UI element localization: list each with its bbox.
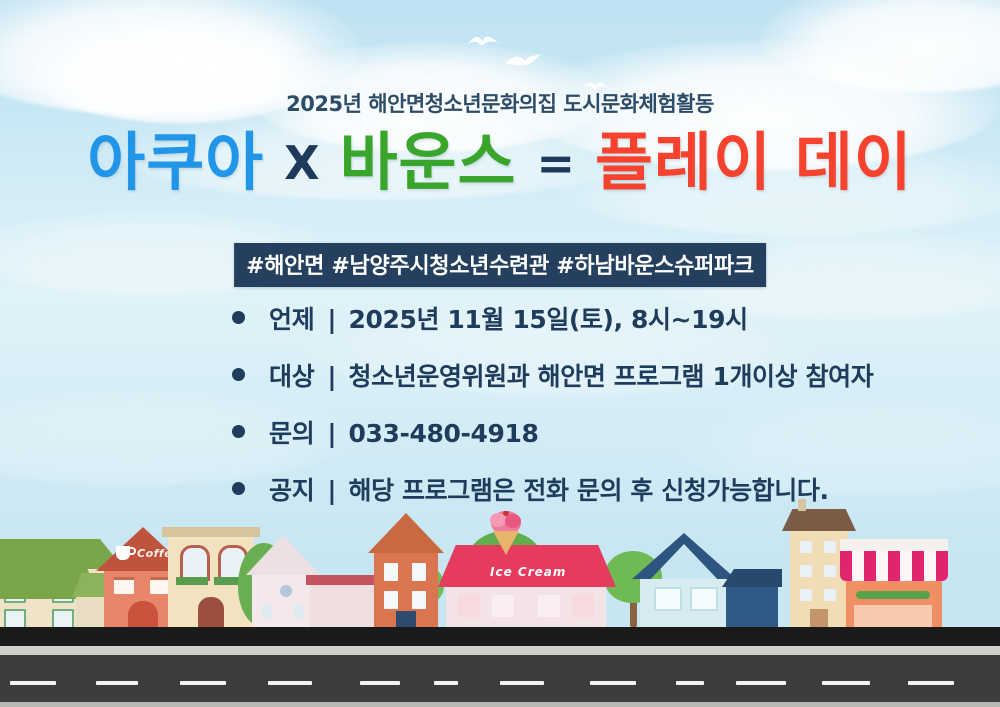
info-value: 033-480-4918 [349,419,539,448]
info-value: 2025년 11월 15일(토), 8시~19시 [349,300,748,336]
sidewalk-curb [0,646,1000,655]
bullet-icon [232,425,245,438]
bird-icon [468,34,498,48]
info-label: 언제 [269,300,314,336]
road-surface [0,655,1000,707]
info-row-when: 언제 | 2025년 11월 15일(토), 8시~19시 [232,300,972,357]
info-separator: | [327,419,336,448]
poster-title: 아쿠아 X 바운스 = 플레이 데이 [0,131,1000,194]
info-value: 청소년운영위원과 해안면 프로그램 1개이상 참여자 [349,357,874,393]
roof-shape [162,527,260,537]
poster-subheading: 2025년 해안면청소년문화의집 도시문화체험활동 [0,88,1000,118]
title-word-aqua: 아쿠아 [87,131,264,194]
cityscape-right-section [0,547,1000,707]
info-row-audience: 대상 | 청소년운영위원과 해안면 프로그램 1개이상 참여자 [232,357,972,414]
info-label: 문의 [269,414,314,450]
info-separator: | [327,305,336,334]
bullet-icon [232,482,245,495]
event-info-list: 언제 | 2025년 11월 15일(토), 8시~19시 대상 | 청소년운영… [232,300,972,528]
bullet-icon [232,368,245,381]
road-lane-markings [0,681,1000,685]
info-row-contact: 문의 | 033-480-4918 [232,414,972,471]
info-separator: | [327,476,336,505]
title-word-playday: 플레이 데이 [595,131,913,194]
info-separator: | [327,362,336,391]
title-operator-equals: = [536,136,575,190]
street-fence [0,627,1000,646]
info-value: 해당 프로그램은 전화 문의 후 신청가능합니다. [349,471,829,507]
fence-posts [0,630,1000,643]
road-shoulder [0,702,1000,707]
info-label: 공지 [269,471,314,507]
title-word-bounce: 바운스 [340,131,517,194]
bird-icon [505,52,541,68]
event-poster: 2025년 해안면청소년문화의집 도시문화체험활동 아쿠아 X 바운스 = 플레… [0,0,1000,707]
chimney-shape [798,499,806,511]
info-row-notice: 공지 | 해당 프로그램은 전화 문의 후 신청가능합니다. [232,471,972,528]
roof-shape [782,509,856,531]
cloud-shape [760,0,1000,92]
title-operator-times: X [284,136,319,190]
hashtag-bar: #해안면 #남양주시청소년수련관 #하남바운스슈퍼파크 [234,243,766,287]
bullet-icon [232,311,245,324]
info-label: 대상 [269,357,314,393]
